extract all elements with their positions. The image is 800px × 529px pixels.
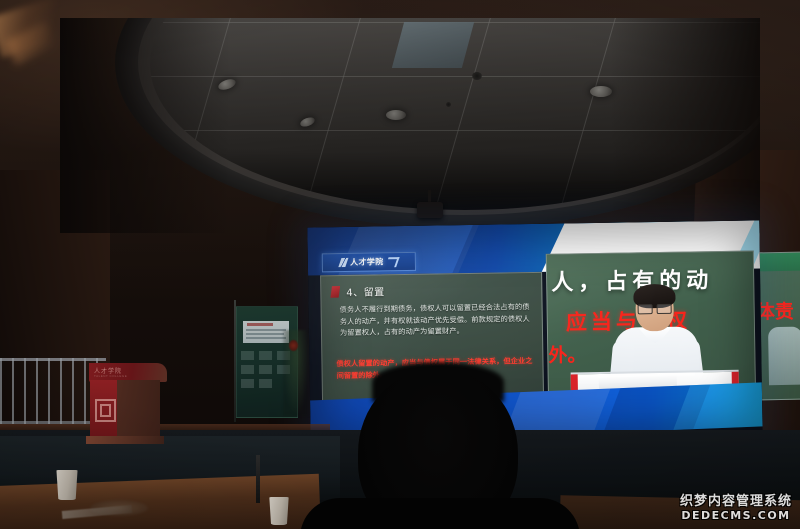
banner-card-line [246,329,286,331]
ceiling-left-shadow [60,18,230,233]
railing-bar [60,358,62,424]
logo-bracket-icon [385,257,399,267]
conference-hall-photo: 体责 人才学院 4、留置 债务 [0,0,800,529]
secondary-display-top-band [757,253,800,272]
railing-bar [48,358,50,424]
banner-card-line [246,337,286,339]
academy-logo: 人才学院 [322,252,416,272]
railing-bar [0,358,2,424]
slide-title: 4、留置 [346,283,385,299]
podium-subtitle-text: TALENT COLLEGE [94,374,127,378]
banner-cell [241,365,254,374]
watermark-english: DEDECMS.COM [680,510,792,523]
logo-slash-icon [338,258,348,267]
podium-seal-emblem-icon [95,399,116,422]
banner-cell [259,365,272,374]
paper-cup [55,470,79,500]
railing-bar [24,358,26,424]
secondary-display-presenter [768,327,800,386]
slide-title-marker-icon [330,286,340,298]
microphone-stand [256,455,260,503]
railing-bar [72,358,74,424]
watermark: 织梦内容管理系统 DEDECMS.COM [680,495,792,523]
railing-top-rail [0,358,106,361]
railing-bar [36,358,38,424]
academy-logo-text: 人才学院 [350,258,384,267]
audience-shoulders-silhouette [300,498,580,529]
slide-title-row: 4、留置 [330,283,385,299]
railing-bar [84,358,86,424]
slide-body-text: 债务人不履行到期债务，债权人可以留置已经合法占有的债务人的动产，并有权就该动产优… [340,301,531,339]
ceiling-downlight [299,116,316,129]
ceiling-air-vent [392,22,474,68]
ceiling-downlight [590,86,612,97]
railing-bar [12,358,14,424]
secondary-display-red-text: 体责 [756,297,794,325]
plant-red-flower [289,340,298,351]
ceiling [60,18,760,233]
paper-cup [268,497,290,525]
blackboard-red-text-secondary: 外。 [548,340,586,368]
secondary-display: 体责 [756,252,800,401]
watermark-chinese: 织梦内容管理系统 [680,495,792,510]
stage-podium: 人才学院 TALENT COLLEGE [89,363,167,445]
ceiling-sensor [446,102,451,107]
podium-base [86,436,164,444]
banner-cell [241,351,254,360]
banner-card-title [247,323,273,326]
ceiling-right-shadow [610,18,760,233]
presenter-glasses [638,304,672,313]
ceiling-sensor [472,72,482,80]
ceiling-projector [417,202,443,218]
banner-card-line [246,333,284,335]
ceiling-downlight [386,110,406,120]
banner-cell [259,351,272,360]
banner-cell [241,379,254,388]
banner-cell [259,379,272,388]
